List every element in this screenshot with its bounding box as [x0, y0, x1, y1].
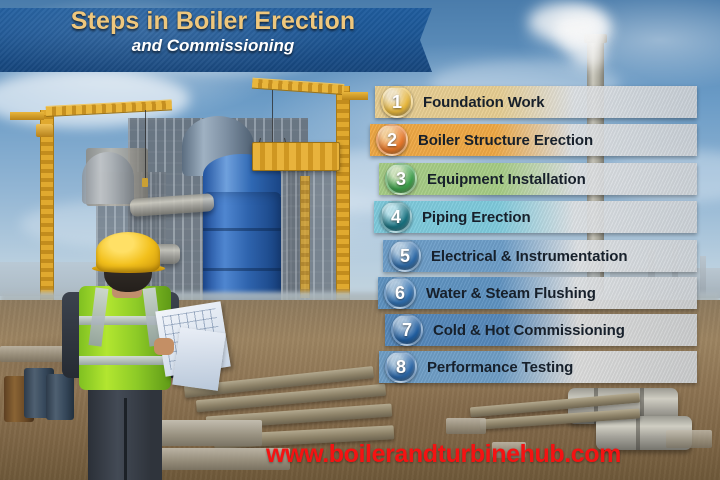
step-label: Boiler Structure Erection — [418, 132, 593, 149]
step-label: Piping Erection — [422, 209, 531, 226]
infographic-canvas: Steps in Boiler Erection and Commissioni… — [0, 0, 720, 480]
step-label: Performance Testing — [427, 359, 573, 376]
step-label: Foundation Work — [423, 94, 545, 111]
step-row[interactable]: 6Water & Steam Flushing — [378, 277, 697, 309]
step-number-badge: 8 — [385, 351, 417, 383]
step-row[interactable]: 2Boiler Structure Erection — [370, 124, 697, 156]
step-row[interactable]: 5Electrical & Instrumentation — [383, 240, 697, 272]
step-number-badge: 3 — [385, 163, 417, 195]
title-block: Steps in Boiler Erection and Commissioni… — [0, 0, 432, 64]
step-label: Equipment Installation — [427, 171, 586, 188]
step-number-badge: 4 — [380, 201, 412, 233]
step-number-badge: 1 — [381, 86, 413, 118]
page-title: Steps in Boiler Erection — [71, 8, 361, 34]
step-number-badge: 7 — [391, 314, 423, 346]
page-subtitle: and Commissioning — [132, 36, 300, 56]
step-row[interactable]: 1Foundation Work — [375, 86, 697, 118]
step-row[interactable]: 4Piping Erection — [374, 201, 697, 233]
watermark-url: www.boilerandturbinehub.com — [266, 440, 621, 469]
step-label: Water & Steam Flushing — [426, 285, 596, 302]
step-number-badge: 6 — [384, 277, 416, 309]
step-row[interactable]: 7Cold & Hot Commissioning — [385, 314, 697, 346]
step-label: Electrical & Instrumentation — [431, 248, 627, 265]
steps-list: 1Foundation Work2Boiler Structure Erecti… — [0, 0, 720, 480]
step-row[interactable]: 8Performance Testing — [379, 351, 697, 383]
step-label: Cold & Hot Commissioning — [433, 322, 625, 339]
step-row[interactable]: 3Equipment Installation — [379, 163, 697, 195]
step-number-badge: 2 — [376, 124, 408, 156]
step-number-badge: 5 — [389, 240, 421, 272]
